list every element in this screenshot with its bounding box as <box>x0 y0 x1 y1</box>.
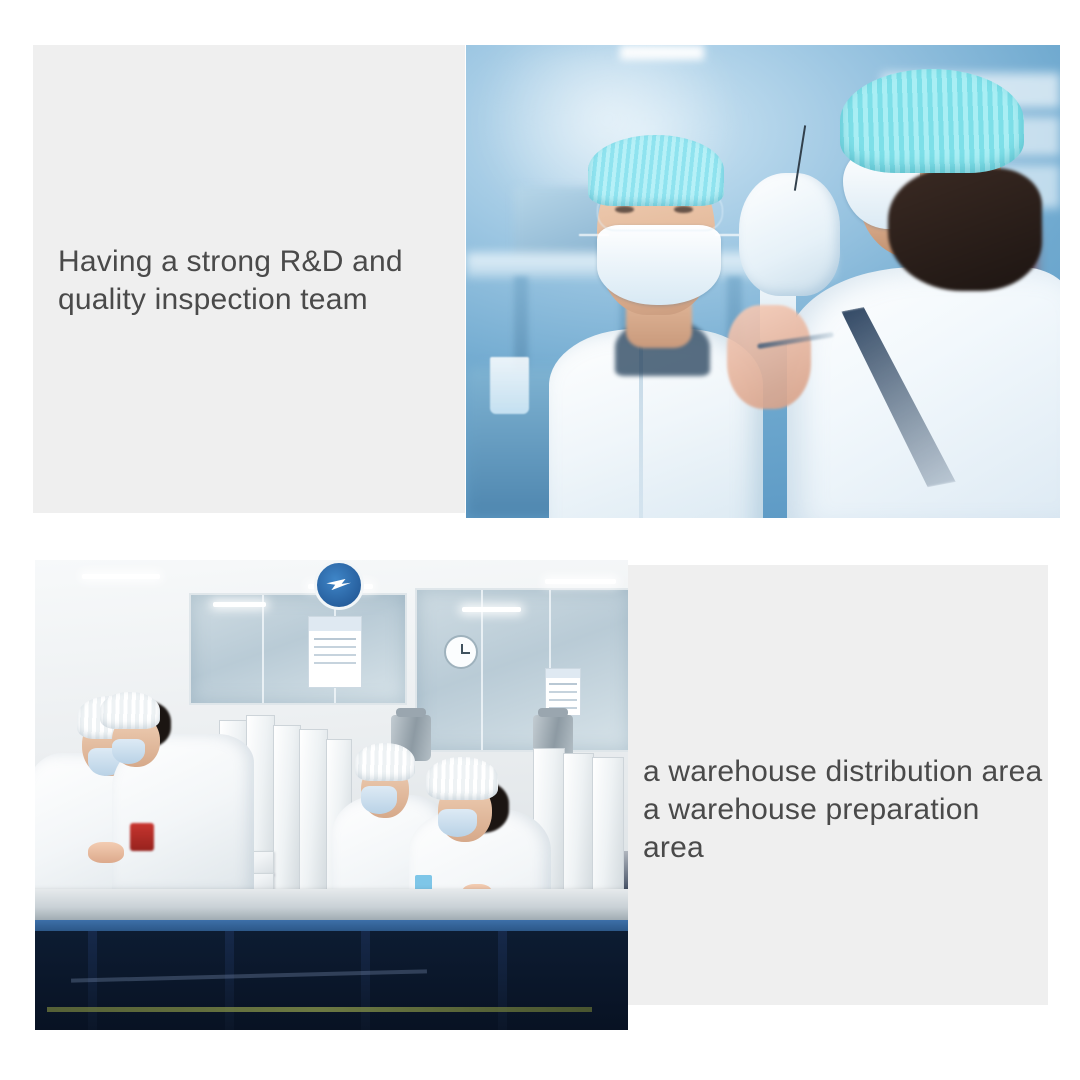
laboratory-photo <box>466 45 1060 518</box>
window-mullion <box>481 590 483 750</box>
bottom-caption-text: a warehouse distribution area a warehous… <box>643 753 1043 867</box>
table-leg <box>361 931 370 1030</box>
lab-background <box>466 45 1060 518</box>
technician-b-hair <box>888 168 1042 291</box>
ceiling-strip-light <box>462 607 521 612</box>
ceiling-strip-light <box>213 602 266 607</box>
table-leg <box>225 931 234 1030</box>
worker-4-face-mask <box>438 809 477 837</box>
carton-stack <box>299 729 327 891</box>
top-caption-text: Having a strong R&D and quality inspecti… <box>58 243 458 319</box>
red-item <box>130 823 154 851</box>
warehouse-photo <box>35 560 628 1030</box>
banner-page: Having a strong R&D and quality inspecti… <box>0 0 1080 1080</box>
wall-notice-poster <box>308 616 362 688</box>
interior-window-left <box>189 593 406 705</box>
technician-b-labcoat <box>787 267 1060 518</box>
worker-2-face-mask <box>112 739 145 765</box>
ceiling-strip-light <box>82 574 159 579</box>
worker-3-hairnet <box>355 743 414 781</box>
warehouse-background <box>35 560 628 1030</box>
wall-logo-sign <box>314 560 364 610</box>
lower-shelf-rail <box>47 1007 593 1012</box>
technician-a-face-mask <box>597 225 722 305</box>
carton-stack <box>592 757 624 891</box>
carton-stack <box>563 753 595 891</box>
worker-4-hairnet <box>426 757 497 799</box>
table-leg <box>498 931 507 1030</box>
carton-stack <box>273 725 301 892</box>
ceiling-strip-light <box>545 579 616 584</box>
worker-2-hairnet <box>100 692 159 730</box>
worker-2-hand <box>88 842 124 863</box>
beaker <box>490 357 529 414</box>
mask-strap <box>579 234 609 236</box>
interior-window-right <box>415 588 628 752</box>
technician-a-hairnet <box>588 135 725 206</box>
technician-b-hairnet <box>840 69 1024 173</box>
technician-a-eye <box>615 206 634 214</box>
steel-worktable <box>35 889 628 922</box>
worker-3-face-mask <box>361 786 397 814</box>
gloved-hand-lower <box>727 305 810 409</box>
gloved-hand-upper <box>739 173 840 296</box>
window-mullion <box>262 595 264 703</box>
